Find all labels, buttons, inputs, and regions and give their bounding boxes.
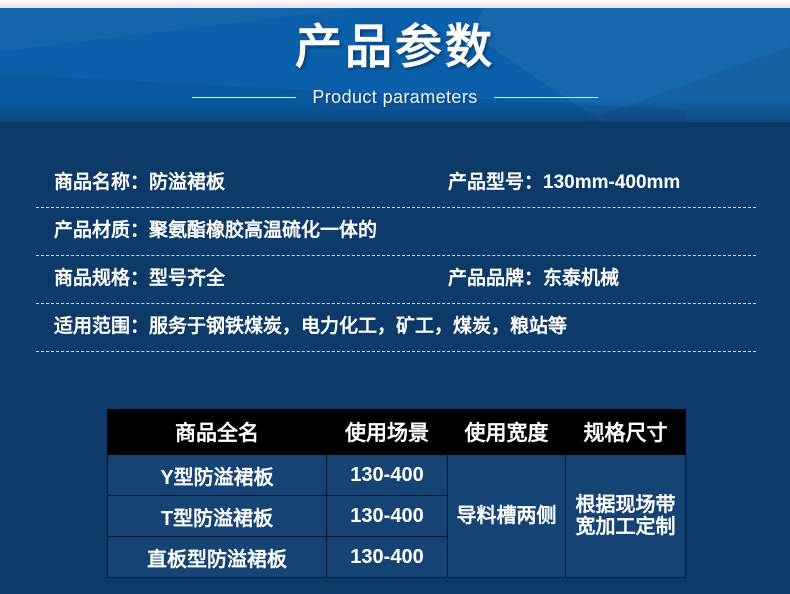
spec-label: 产品材质： — [54, 218, 149, 244]
table-header-cell: 使用场景 — [327, 410, 448, 455]
cell-product-name: T型防溢裙板 — [108, 496, 327, 537]
cell-scene: 130-400 — [327, 496, 448, 537]
table-header-cell: 规格尺寸 — [566, 410, 686, 455]
spec-label: 产品品牌： — [448, 266, 543, 292]
spec-cell-name: 商品名称： 防溢裙板 — [36, 170, 448, 196]
rule-right — [494, 97, 598, 98]
table-header-cell: 使用宽度 — [448, 410, 566, 455]
spec-label: 适用范围： — [54, 314, 149, 340]
cell-product-name: Y型防溢裙板 — [108, 455, 327, 496]
cell-size-line1: 根据现场带 — [576, 494, 676, 516]
spec-value: 东泰机械 — [543, 266, 619, 292]
banner: 产品参数 Product parameters — [0, 8, 790, 122]
cell-size-merged: 根据现场带 宽加工定制 — [566, 455, 686, 578]
table-row: Y型防溢裙板 130-400 导料槽两侧 根据现场带 宽加工定制 — [108, 455, 686, 496]
cell-scene: 130-400 — [327, 537, 448, 578]
spec-value: 型号齐全 — [149, 266, 225, 292]
page-subtitle: Product parameters — [312, 86, 477, 108]
spec-row: 商品名称： 防溢裙板 产品型号： 130mm-400mm — [36, 160, 756, 208]
spec-cell-material: 产品材质： 聚氨酯橡胶高温硫化一体的 — [36, 218, 756, 244]
spec-list: 商品名称： 防溢裙板 产品型号： 130mm-400mm 产品材质： 聚氨酯橡胶… — [36, 160, 756, 352]
spec-value: 服务于钢铁煤炭，电力化工，矿工，煤炭，粮站等 — [149, 314, 567, 340]
spec-label: 商品名称： — [54, 170, 149, 196]
spec-cell-spec: 商品规格： 型号齐全 — [36, 266, 448, 292]
spec-cell-model: 产品型号： 130mm-400mm — [448, 170, 756, 196]
spec-cell-brand: 产品品牌： 东泰机械 — [448, 266, 756, 292]
product-table-wrap: 商品全名 使用场景 使用宽度 规格尺寸 Y型防溢裙板 130-400 导料槽两侧… — [107, 409, 685, 578]
table-header-row: 商品全名 使用场景 使用宽度 规格尺寸 — [108, 410, 686, 455]
cell-product-name: 直板型防溢裙板 — [108, 537, 327, 578]
spec-value: 防溢裙板 — [149, 170, 225, 196]
product-parameters-page: 产品参数 Product parameters 商品名称： 防溢裙板 产品型号：… — [0, 0, 790, 594]
cell-size-line2: 宽加工定制 — [576, 516, 676, 538]
spec-value: 130mm-400mm — [543, 170, 680, 196]
banner-subtitle-row: Product parameters — [0, 86, 790, 108]
row-separator — [36, 351, 756, 352]
page-title: 产品参数 — [0, 20, 790, 74]
spec-row: 商品规格： 型号齐全 产品品牌： 东泰机械 — [36, 256, 756, 304]
spec-label: 商品规格： — [54, 266, 149, 292]
cell-width-merged: 导料槽两侧 — [448, 455, 566, 578]
banner-content: 产品参数 Product parameters — [0, 8, 790, 122]
cell-scene: 130-400 — [327, 455, 448, 496]
top-light-strip — [0, 0, 790, 8]
spec-row: 产品材质： 聚氨酯橡胶高温硫化一体的 — [36, 208, 756, 256]
product-table: 商品全名 使用场景 使用宽度 规格尺寸 Y型防溢裙板 130-400 导料槽两侧… — [107, 409, 686, 578]
table-header-cell: 商品全名 — [108, 410, 327, 455]
spec-cell-application: 适用范围： 服务于钢铁煤炭，电力化工，矿工，煤炭，粮站等 — [36, 314, 756, 340]
spec-value: 聚氨酯橡胶高温硫化一体的 — [149, 218, 377, 244]
spec-label: 产品型号： — [448, 170, 543, 196]
rule-left — [192, 97, 296, 98]
spec-row: 适用范围： 服务于钢铁煤炭，电力化工，矿工，煤炭，粮站等 — [36, 304, 756, 352]
